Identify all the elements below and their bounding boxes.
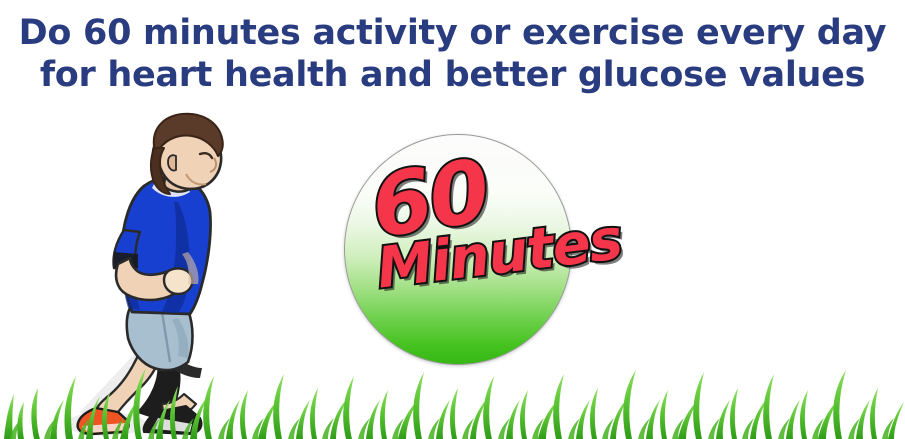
headline-line-2: for heart health and better glucose valu… [0, 54, 905, 96]
sixty-minutes-badge: 60 Minutes [344, 134, 572, 365]
badge-text-group: 60 Minutes [344, 134, 572, 365]
slide-canvas: Do 60 minutes activity or exercise every… [0, 0, 905, 439]
page-title: Do 60 minutes activity or exercise every… [0, 12, 905, 96]
runner-illustration [58, 112, 248, 437]
headline-line-1: Do 60 minutes activity or exercise every… [0, 12, 905, 54]
runner-head [151, 114, 223, 194]
